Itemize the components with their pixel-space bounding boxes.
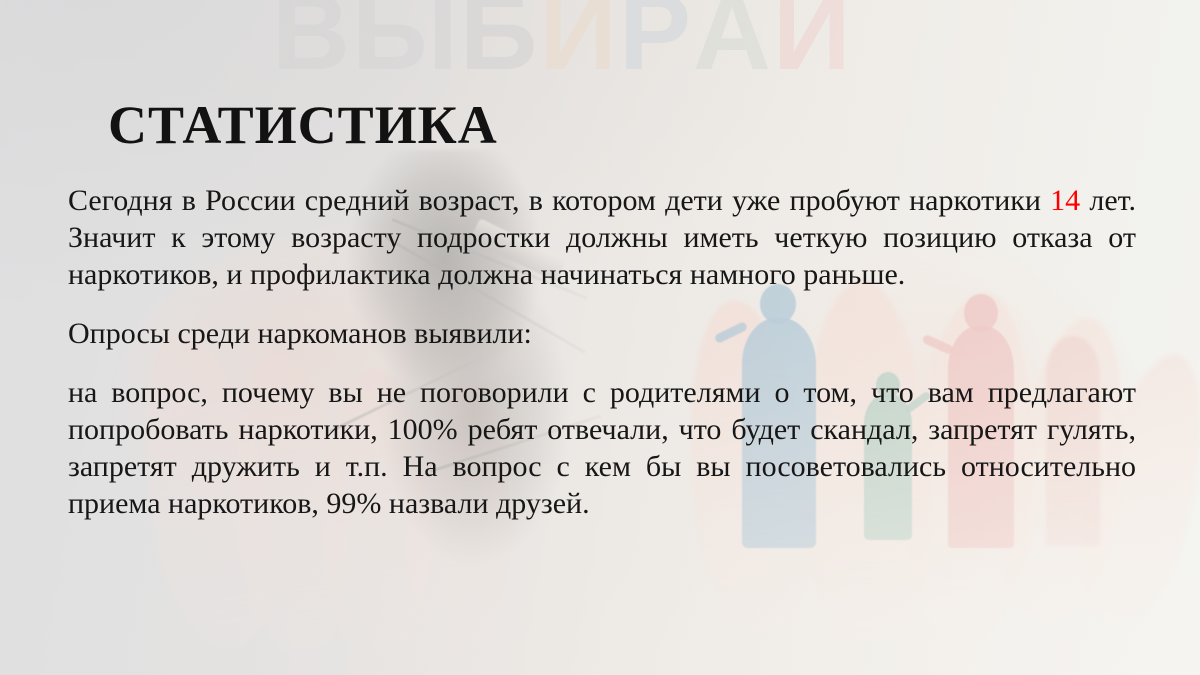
paragraph-survey-intro: Опросы среди наркоманов выявили: xyxy=(68,315,1136,352)
slide-body: Сегодня в России средний возраст, в кото… xyxy=(68,182,1136,522)
slide-content: СТАТИСТИКА Сегодня в России средний возр… xyxy=(0,0,1200,675)
paragraph-average-age: Сегодня в России средний возраст, в кото… xyxy=(68,182,1136,293)
paragraph-survey-results: на вопрос, почему вы не поговорили с род… xyxy=(68,374,1136,522)
paragraph-1-part-a: Сегодня в России средний возраст, в кото… xyxy=(68,184,1050,217)
highlight-age-14: 14 xyxy=(1050,184,1080,217)
page-title: СТАТИСТИКА xyxy=(108,94,498,156)
presentation-slide: В Ы Б И Р А Й СТАТИСТИКА Сегодня в Росси… xyxy=(0,0,1200,675)
